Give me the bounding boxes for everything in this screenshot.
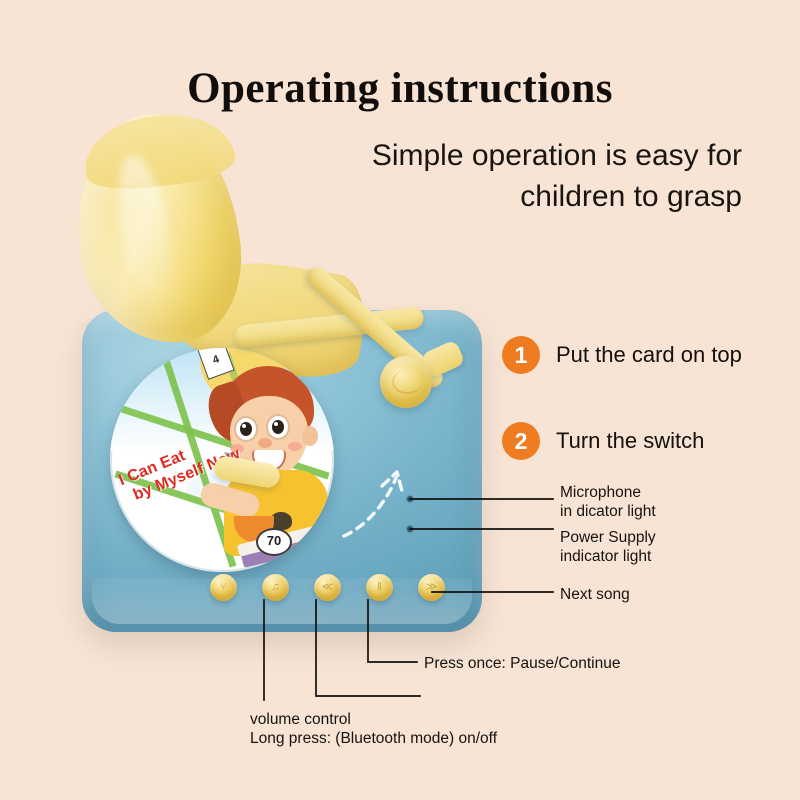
volume-control-label-line1: volume control [250,711,351,728]
page-subtitle-line2: children to grasp [282,177,742,218]
step-1-badge: 1 [502,336,540,374]
power-indicator-label-line1: Power Supply [560,529,656,546]
card-track-number: 70 [256,528,292,556]
step-1-callout: 1 Put the card on top [502,336,742,374]
boy-cheek [288,442,302,451]
volume-control-label: volume control Long press: (Bluetooth mo… [250,710,497,748]
microphone-indicator-label-line2: in dicator light [560,502,656,521]
boy-eye-glint [274,422,278,426]
volume-icon: ♫ [262,574,289,601]
next-song-label-line1: Next song [560,586,630,603]
step-2-badge: 2 [502,422,540,460]
step-1-label: Put the card on top [556,342,742,368]
volume-bluetooth-button[interactable]: ♫ [262,574,289,601]
previous-song-button[interactable]: ≪ [314,574,341,601]
step-2-label: Turn the switch [556,428,704,454]
power-indicator-label-line2: indicator light [560,547,656,566]
next-song-button[interactable]: ≫ [418,574,445,601]
instruction-infographic: Operating instructions Simple operation … [0,0,800,800]
power-indicator-label: Power Supply indicator light [560,528,656,566]
next-song-label: Next song [560,585,630,604]
gramophone-toy-device: 4 I Can Eat by Myself Now 70 ⑂ ♫ [82,310,482,632]
volume-control-label-line2: Long press: (Bluetooth mode) on/off [250,729,497,748]
next-icon: ≫ [418,574,445,601]
microphone-indicator-label-line1: Microphone [560,484,641,501]
page-subtitle-line1: Simple operation is easy for [372,139,742,172]
pause-continue-label-line1: Press once: Pause/Continue [424,655,620,672]
rotation-arrow-icon [340,456,430,542]
microphone-icon: ⑂ [210,574,237,601]
pause-continue-label: Press once: Pause/Continue [424,654,620,673]
play-pause-button[interactable]: ‖ [366,574,393,601]
previous-icon: ≪ [314,574,341,601]
power-switch-knob[interactable] [380,356,432,408]
step-2-callout: 2 Turn the switch [502,422,704,460]
microphone-indicator-label: Microphone in dicator light [560,483,656,521]
boy-ear [302,426,318,446]
page-title: Operating instructions [0,66,800,111]
microphone-button[interactable]: ⑂ [210,574,237,601]
page-subtitle: Simple operation is easy for children to… [282,136,742,217]
pause-icon: ‖ [366,574,393,601]
